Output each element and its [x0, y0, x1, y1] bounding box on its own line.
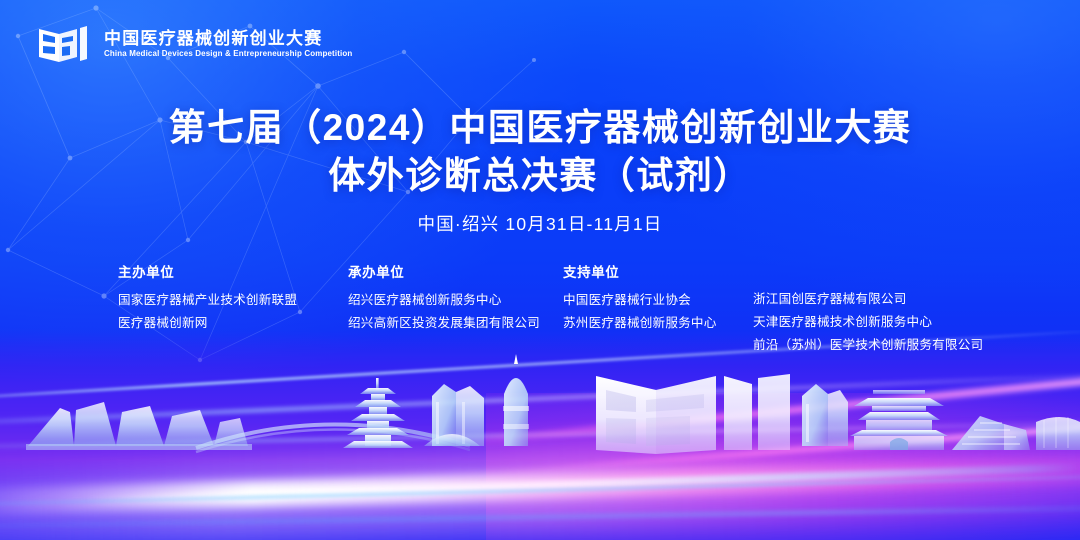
pagoda-icon: [343, 378, 413, 448]
partner-item: 国家医疗器械产业技术创新联盟: [118, 289, 348, 312]
brand-logo: 中国医疗器械创新创业大赛 China Medical Devices Desig…: [36, 20, 363, 68]
partner-item: 绍兴医疗器械创新服务中心: [348, 289, 563, 312]
page-title-line2: 体外诊断总决赛（试剂）: [0, 152, 1080, 200]
location-date: 中国·绍兴 10月31日-11月1日: [0, 211, 1080, 236]
partner-item: 医疗器械创新网: [118, 312, 348, 335]
spire-tower-icon: [503, 354, 529, 446]
partner-heading: 承办单位: [348, 266, 563, 280]
competition-logo-monument-icon: [596, 374, 790, 454]
hero-titles: 第七届（2024）中国医疗器械创新创业大赛 体外诊断总决赛（试剂） 中国·绍兴 …: [0, 104, 1080, 236]
partner-heading: 支持单位: [563, 266, 753, 280]
partner-organizations: 主办单位 国家医疗器械产业技术创新联盟 医疗器械创新网 承办单位 绍兴医疗器械创…: [118, 266, 998, 357]
partner-item: 苏州医疗器械创新服务中心: [563, 312, 753, 335]
partner-heading: 主办单位: [118, 266, 348, 280]
cylindrical-arena-icon: [1036, 417, 1080, 450]
event-poster: 中国医疗器械创新创业大赛 China Medical Devices Desig…: [0, 0, 1080, 540]
partner-column-host: 主办单位 国家医疗器械产业技术创新联盟 医疗器械创新网: [118, 266, 348, 335]
city-gate-tower-icon: [850, 390, 948, 450]
page-title-line1: 第七届（2024）中国医疗器械创新创业大赛: [0, 104, 1080, 152]
partner-item: 浙江国创医疗器械有限公司: [753, 288, 1003, 311]
open-book-door-logo-icon: [36, 20, 92, 68]
partner-item: 绍兴高新区投资发展集团有限公司: [348, 312, 563, 335]
partner-column-organizer: 承办单位 绍兴医疗器械创新服务中心 绍兴高新区投资发展集团有限公司: [348, 266, 563, 335]
partner-item: 前沿（苏州）医学技术创新服务有限公司: [753, 334, 1003, 357]
partner-item: 中国医疗器械行业协会: [563, 289, 753, 312]
partner-column-supporter: 支持单位 中国医疗器械行业协会 苏州医疗器械创新服务中心: [563, 266, 753, 335]
brand-name-cn: 中国医疗器械创新创业大赛: [104, 30, 363, 47]
partner-column-supporter-extra: 浙江国创医疗器械有限公司 天津医疗器械技术创新服务中心 前沿（苏州）医学技术创新…: [753, 266, 1003, 357]
brand-name-en: China Medical Devices Design & Entrepren…: [104, 49, 352, 57]
stepped-pyramid-icon: [952, 416, 1030, 450]
twin-tower-icon: [802, 384, 848, 446]
city-skyline: [0, 350, 1080, 480]
opera-house-icon: [28, 402, 248, 446]
partner-item: 天津医疗器械技术创新服务中心: [753, 311, 1003, 334]
glass-tower-icon: [424, 384, 484, 446]
